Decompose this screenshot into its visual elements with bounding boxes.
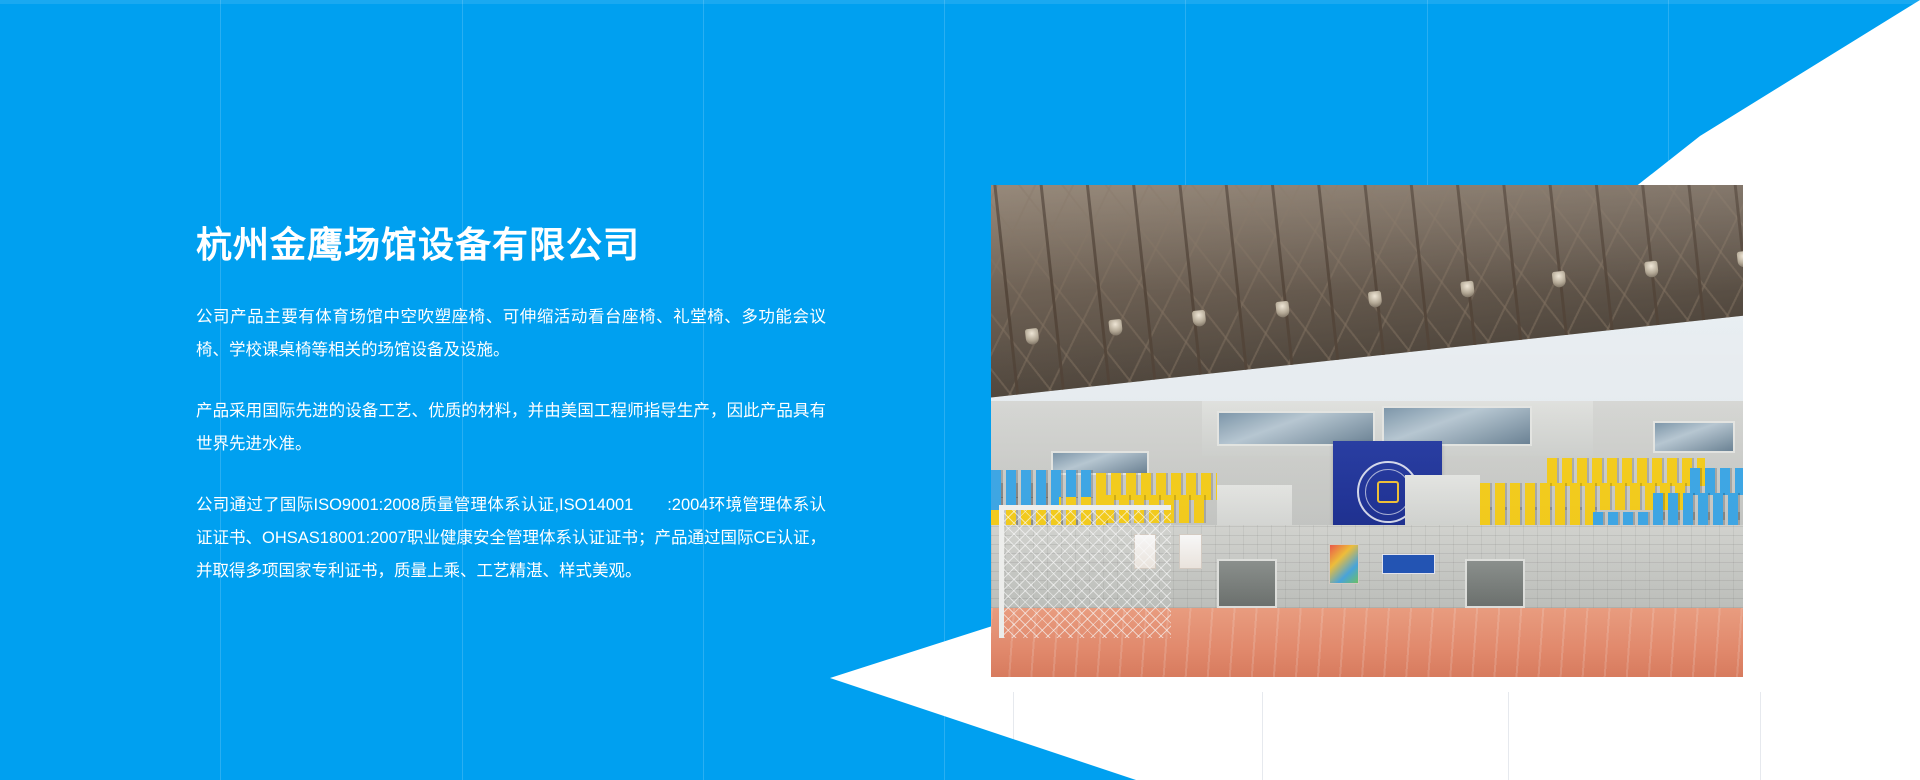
lamp-icon — [1276, 300, 1291, 317]
service-door — [1217, 559, 1277, 608]
intro-paragraph-certifications: 公司通过了国际ISO9001:2008质量管理体系认证,ISO14001 :20… — [196, 489, 826, 588]
seat-row-blue — [1690, 468, 1743, 496]
soccer-goal — [999, 505, 1172, 638]
wall-poster-colorful — [1329, 544, 1359, 583]
lamp-icon — [1024, 328, 1039, 345]
blue-top-highlight — [0, 0, 1920, 4]
intro-paragraph-products: 公司产品主要有体育场馆中空吹塑座椅、可伸缩活动看台座椅、礼堂椅、多功能会议椅、学… — [196, 301, 826, 367]
company-title: 杭州金鹰场馆设备有限公司 — [196, 222, 826, 267]
service-door — [1465, 559, 1525, 608]
window — [1653, 421, 1736, 453]
seat-row-yellow — [1547, 458, 1705, 486]
stadium-photo — [991, 185, 1743, 677]
intro-paragraph-technology: 产品采用国际先进的设备工艺、优质的材料，并由美国工程师指导生产，因此产品具有世界… — [196, 395, 826, 461]
lamp-icon — [1736, 250, 1743, 267]
lamp-icon — [1644, 260, 1659, 277]
lamp-icon — [1108, 318, 1123, 335]
company-intro-block: 杭州金鹰场馆设备有限公司 公司产品主要有体育场馆中空吹塑座椅、可伸缩活动看台座椅… — [196, 222, 826, 588]
lamp-icon — [1192, 309, 1207, 326]
lamp-icon — [1552, 270, 1567, 287]
school-seal-core-icon — [1377, 481, 1399, 503]
wall-poster — [1179, 534, 1202, 568]
lamp-icon — [1460, 280, 1475, 297]
hero-banner: 杭州金鹰场馆设备有限公司 公司产品主要有体育场馆中空吹塑座椅、可伸缩活动看台座椅… — [0, 0, 1920, 780]
lamp-icon — [1368, 290, 1383, 307]
stadium-photo-content — [991, 185, 1743, 677]
wall-sign — [1382, 554, 1435, 574]
